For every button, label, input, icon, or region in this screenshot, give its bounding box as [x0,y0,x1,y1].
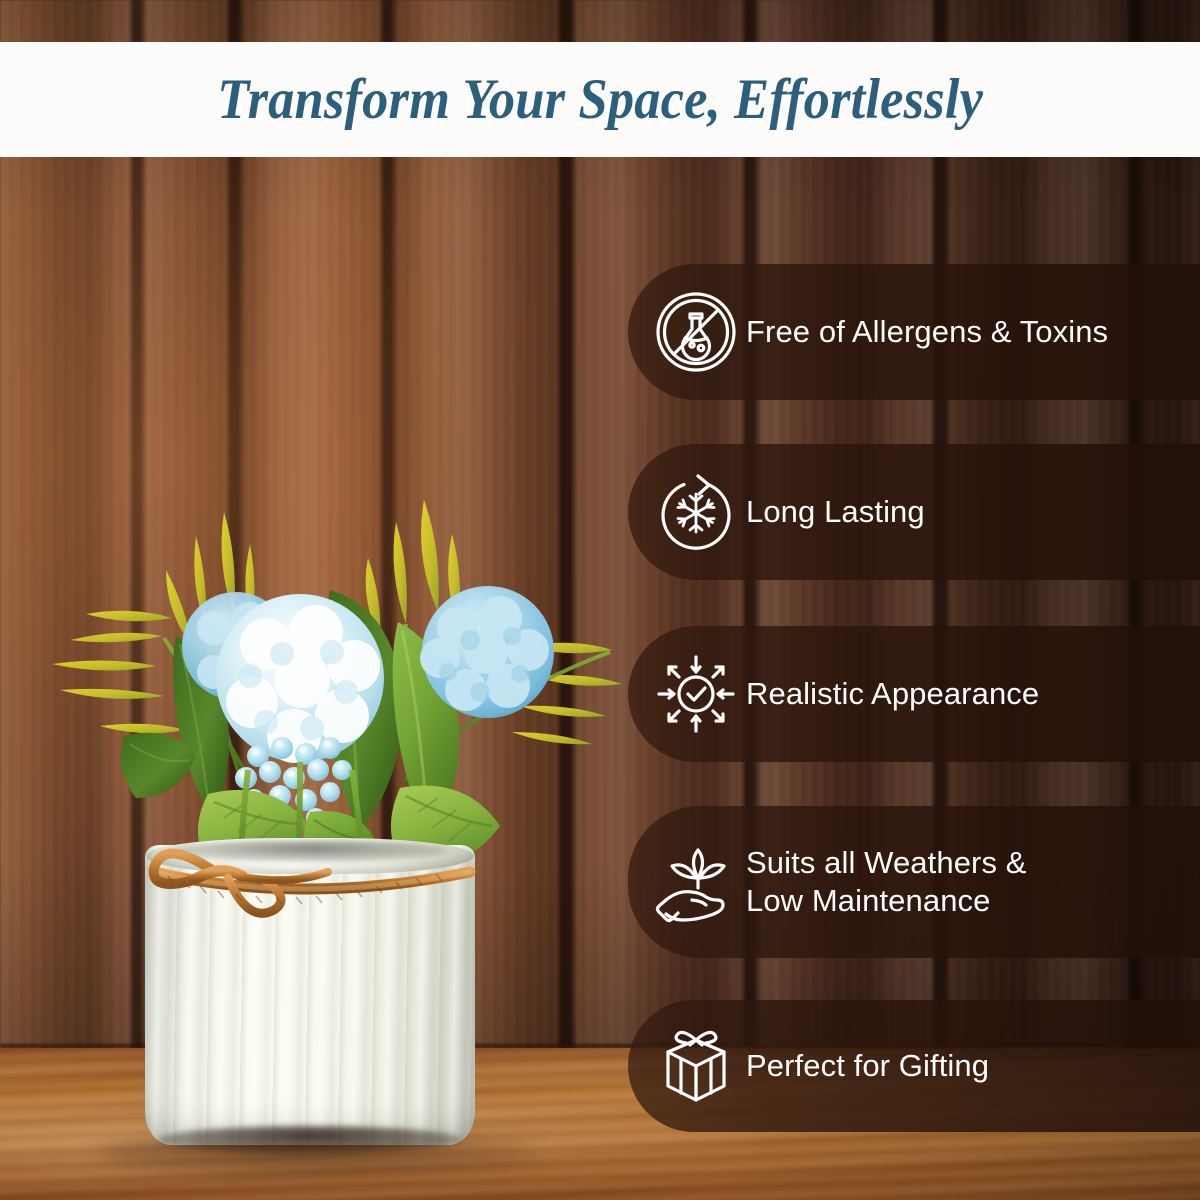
feature-label: Perfect for Gifting [746,1047,1009,1085]
no-chemicals-flask-icon [628,264,746,400]
feature-label: Long Lasting [746,493,945,531]
check-circle-arrows-icon [628,626,746,762]
feature-item-long-lasting[interactable]: Long Lasting [628,444,1200,580]
gift-box-icon [628,1000,746,1132]
hand-holding-sprout-icon [628,806,746,958]
feature-list: Free of Allergens & Toxins [0,0,1200,1200]
feature-item-gifting[interactable]: Perfect for Gifting [628,1000,1200,1132]
feature-label: Suits all Weathers & Low Maintenance [746,844,1047,921]
snowflake-refresh-icon [628,444,746,580]
feature-label: Realistic Appearance [746,675,1059,713]
feature-item-weathers[interactable]: Suits all Weathers & Low Maintenance [628,806,1200,958]
product-marketing-image: Transform Your Space, Effortlessly [0,0,1200,1200]
feature-item-realistic[interactable]: Realistic Appearance [628,626,1200,762]
feature-item-allergens[interactable]: Free of Allergens & Toxins [628,264,1200,400]
feature-label: Free of Allergens & Toxins [746,313,1128,351]
